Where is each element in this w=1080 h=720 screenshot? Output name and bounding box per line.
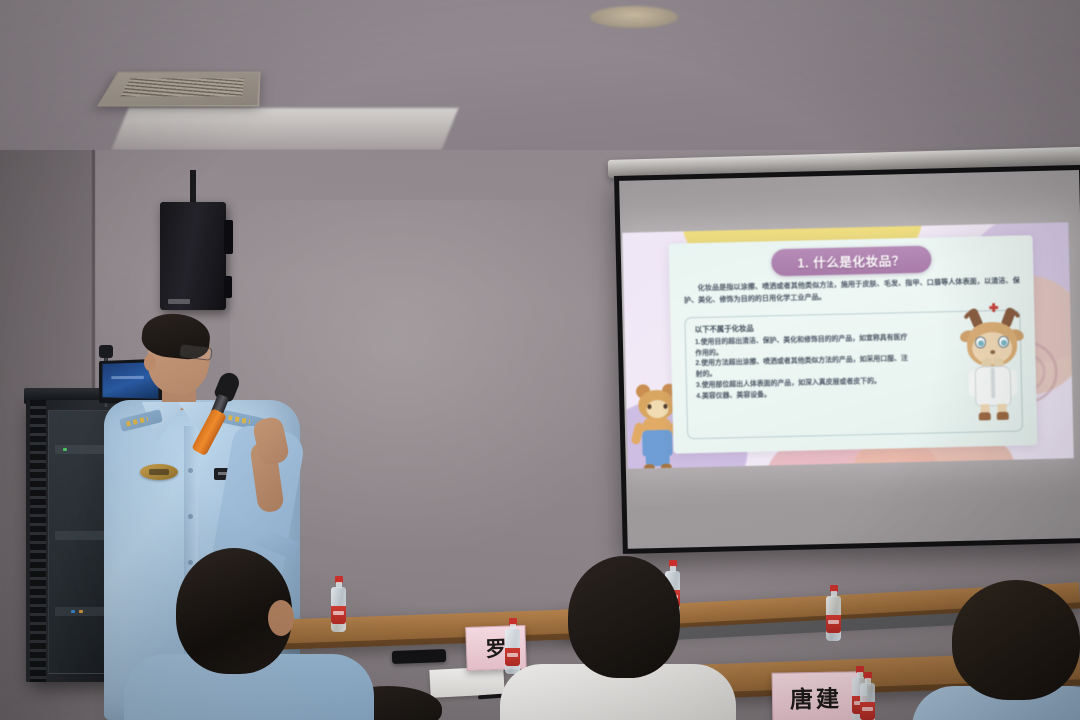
screen-surface: 1. 什么是化妆品？ 化妆品是指以涂擦、喷洒或者其他类似方法，施用于皮肤、毛发、… <box>619 170 1080 549</box>
medical-cross-icon <box>989 303 998 312</box>
ceiling-ac-vent-icon <box>97 72 261 107</box>
deer-doctor-mascot-icon <box>956 301 1029 421</box>
speaker-bracket <box>190 170 196 206</box>
slide-title: 1. 什么是化妆品？ <box>771 246 931 277</box>
ceiling-light-panel <box>112 108 459 150</box>
water-bottle <box>505 618 520 674</box>
water-bottle <box>860 672 875 720</box>
phone-on-desk[interactable] <box>392 649 446 664</box>
chest-badge <box>140 464 178 480</box>
water-bottle <box>331 576 346 632</box>
rack-rail <box>30 400 46 682</box>
projected-slide: 1. 什么是化妆品？ 化妆品是指以涂擦、喷洒或者其他类似方法，施用于皮肤、毛发、… <box>622 222 1074 468</box>
attendee-front-left-ear <box>268 600 294 636</box>
presenter-ear <box>144 354 156 371</box>
placard-text: 罗 <box>485 633 507 664</box>
name-placard: 唐建 <box>772 671 861 720</box>
attendee-front-right-head <box>952 580 1080 700</box>
attendee-front-center-head <box>568 556 680 678</box>
wall-speaker-icon <box>160 202 226 310</box>
water-bottle <box>826 585 841 641</box>
recessed-downlight-icon <box>590 6 678 28</box>
slide-content-card: 1. 什么是化妆品？ 化妆品是指以涂擦、喷洒或者其他类似方法，施用于皮肤、毛发、… <box>669 235 1038 454</box>
projection-screen: 1. 什么是化妆品？ 化妆品是指以涂擦、喷洒或者其他类似方法，施用于皮肤、毛发、… <box>614 165 1080 554</box>
speaker-logo <box>168 299 190 304</box>
placard-text: 唐建 <box>790 680 843 715</box>
presentation-room-photo: 1. 什么是化妆品？ 化妆品是指以涂擦、喷洒或者其他类似方法，施用于皮肤、毛发、… <box>0 0 1080 720</box>
